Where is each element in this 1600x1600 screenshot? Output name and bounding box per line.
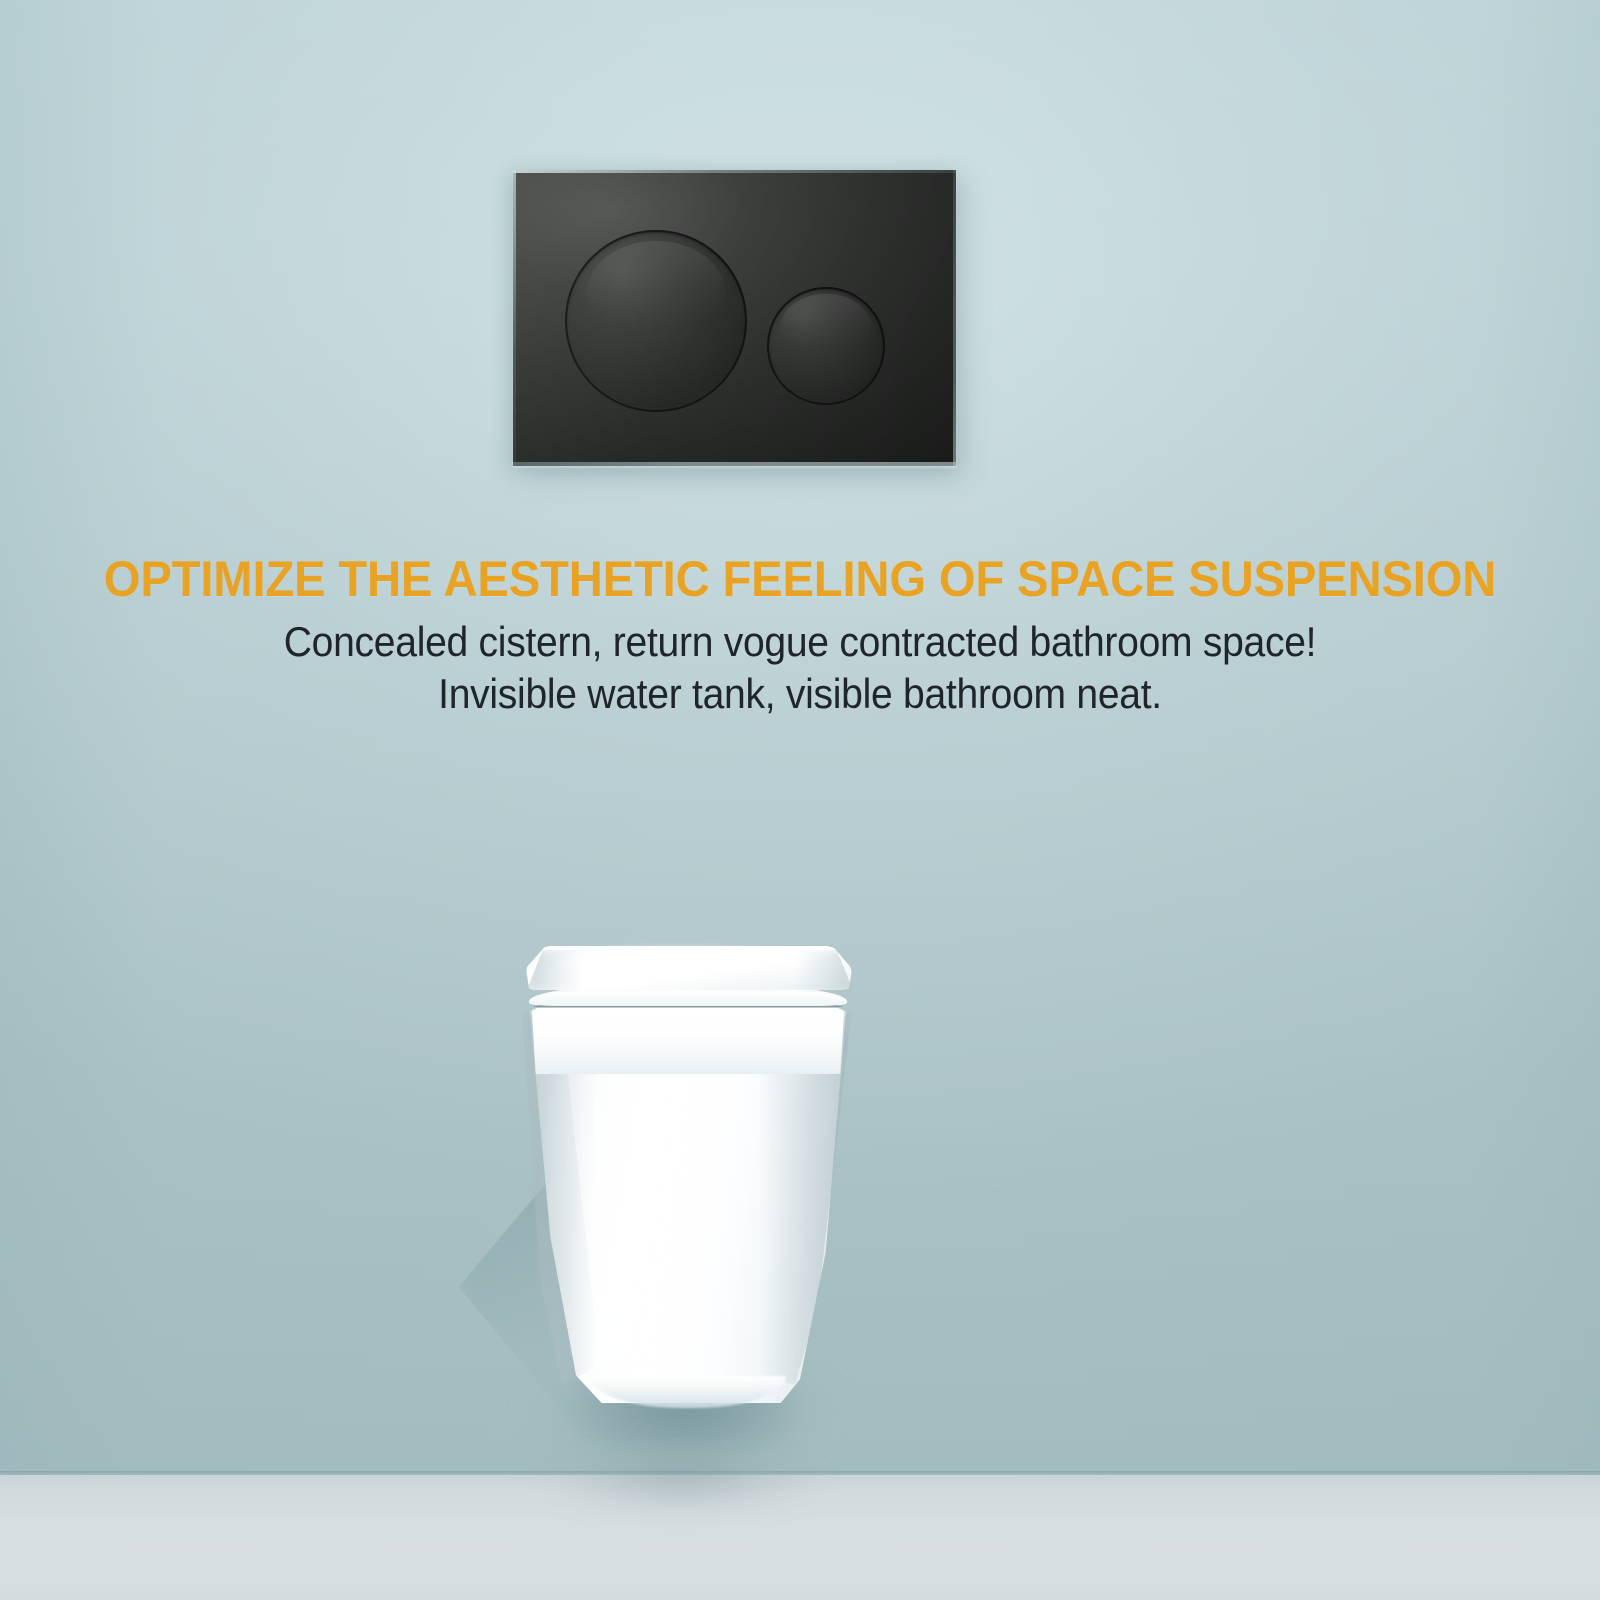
subtitle: Concealed cistern, return vogue contract… <box>56 616 1544 720</box>
toilet-floor-shadow <box>516 1456 846 1534</box>
plate-bottom-edge <box>513 462 956 466</box>
toilet-rim <box>530 1006 846 1074</box>
product-banner: OPTIMIZE THE AESTHETIC FEELING OF SPACE … <box>0 0 1600 1600</box>
flush-plate[interactable] <box>513 170 956 466</box>
full-flush-button-gloss <box>587 241 725 325</box>
plate-left-edge <box>513 170 516 466</box>
toilet-lid[interactable] <box>526 946 852 990</box>
half-flush-button-gloss <box>781 294 871 348</box>
plate-right-edge <box>953 170 956 466</box>
half-flush-button[interactable] <box>767 287 885 405</box>
wall-hung-toilet[interactable] <box>430 900 1050 1460</box>
full-flush-button[interactable] <box>565 230 747 412</box>
subtitle-line-2: Invisible water tank, visible bathroom n… <box>56 668 1544 720</box>
plate-top-edge <box>513 170 956 173</box>
page-title: OPTIMIZE THE AESTHETIC FEELING OF SPACE … <box>44 552 1556 606</box>
subtitle-line-1: Concealed cistern, return vogue contract… <box>56 616 1544 668</box>
